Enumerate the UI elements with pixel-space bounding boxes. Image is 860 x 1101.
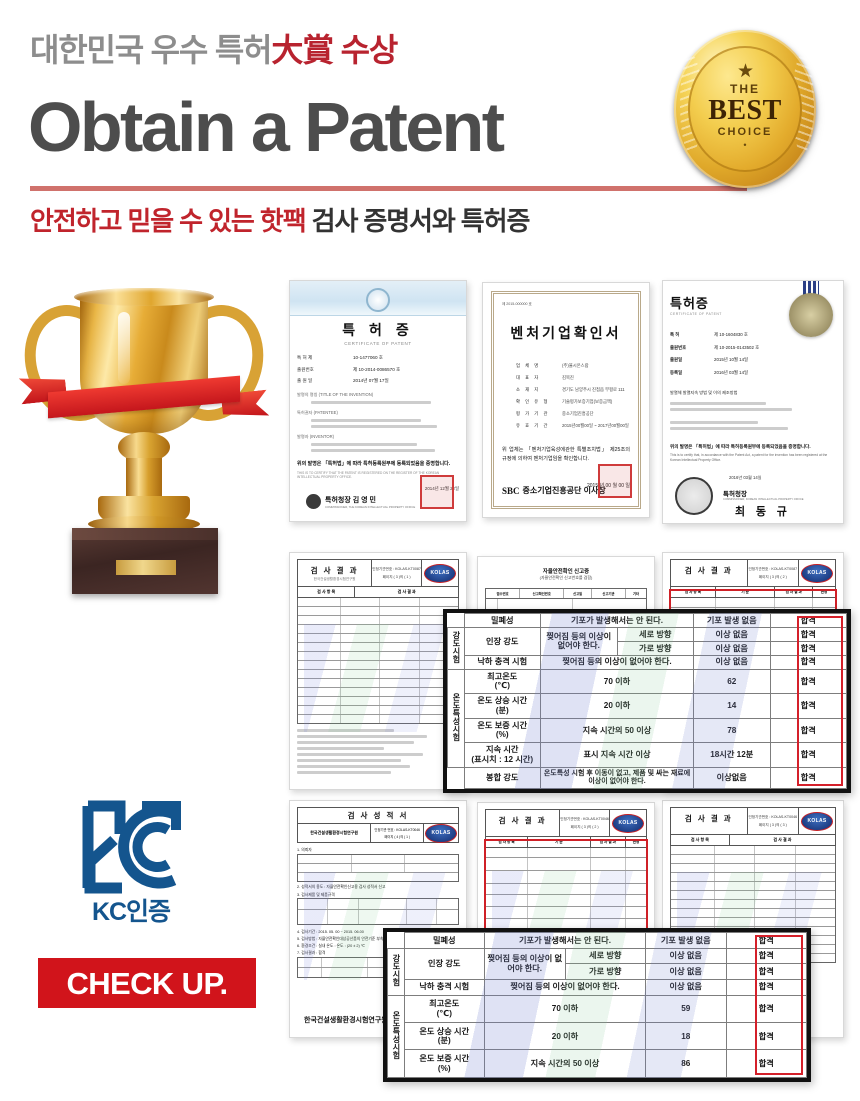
report-col-header: 검 사 결 과 <box>591 837 626 847</box>
kolas-badge-icon: KOLAS <box>801 812 833 831</box>
venture-field-value: 경기도 남양주시 진접읍 부평로 111 <box>562 385 625 394</box>
venture-doc-no: 제 2015-000000 호 <box>502 302 630 307</box>
cell-result: 이상 없음 <box>646 964 727 980</box>
holder-label: 특허권자 (PATENTEE) <box>297 410 459 416</box>
test-result-table: 밀폐성 기포가 발생해서는 안 된다. 기포 발생 없음 합격 강도시험 인장 … <box>447 613 847 789</box>
kolas-badge-icon: KOLAS <box>801 564 833 583</box>
report-page: 페이지 ( 3 )의 ( 3 ) <box>759 823 787 828</box>
cell-judgment: 합격 <box>726 948 807 964</box>
cell-result: 59 <box>646 995 727 1022</box>
cell-criterion: 지속 시간의 50 이상 <box>485 1050 646 1078</box>
page-header: 대한민국 우수 특허大賞 수상 Obtain a Patent 안전하고 믿을 … <box>0 0 860 262</box>
certificate-statement: 위의 발명은 「특허법」에 따라 특허등록원부에 등록되었음을 증명합니다. <box>670 444 836 450</box>
eyebrow-accent-text: 大賞 수상 <box>271 32 397 68</box>
cell-criterion: 찢어짐 등의 이상이 없어야 한다. <box>541 655 694 669</box>
report-header: 검 사 결 과 인정기관번호 : KOLAS-KT0087 페이지 ( 3 )의… <box>670 559 836 587</box>
report-org: 한국건설생활환경시험연구원 <box>310 830 358 836</box>
report-col-header: 판정 <box>813 587 835 597</box>
report-title: 검 사 결 과 <box>685 565 733 576</box>
cell-criterion: 찢어짐 등의 이상이 없어야 한다. <box>485 979 646 995</box>
best-choice-medal-icon: ★ THE BEST CHOICE • <box>672 28 822 193</box>
title-divider <box>30 186 747 191</box>
report-col-header: 검 사 결 과 <box>730 835 835 845</box>
kipo-seal-icon <box>675 477 713 515</box>
table-row: 낙하 충격 시험 찢어짐 등의 이상이 없어야 한다. 이상 없음 합격 <box>448 655 847 669</box>
medal-line-best: BEST <box>708 97 782 125</box>
cell-result: 이상 없음 <box>694 627 771 641</box>
report-title: 검 사 성 적 서 <box>297 807 459 824</box>
cell-judgment: 합격 <box>726 933 807 949</box>
check-up-button-label: CHECK UP. <box>66 968 227 999</box>
venture-statement: 위 업체는 「벤처기업육성에관한 특별조치법」 제25조의 규정에 의하여 벤처… <box>502 446 630 464</box>
venture-field-value: 2015년00월00일 ~ 2017년00월00일 <box>562 421 629 430</box>
cell-result: 62 <box>694 669 771 693</box>
cell-judgment: 합격 <box>770 627 847 641</box>
eyebrow-gray-text: 대한민국 우수 특허 <box>30 32 271 68</box>
cell-result: 이상없음 <box>694 767 771 789</box>
trophy-icon <box>14 282 274 632</box>
cell-judgment: 합격 <box>770 767 847 789</box>
cell-result: 이상 없음 <box>694 655 771 669</box>
table-row: 밀폐성 기포가 발생해서는 안 된다. 기포 발생 없음 합격 <box>448 614 847 628</box>
report-col-header: 검 사 결 과 <box>355 587 458 597</box>
cell-result: 86 <box>646 1050 727 1078</box>
invention-label: 발명의 명칭 (TITLE OF THE INVENTION) <box>297 392 459 398</box>
trophy-nameplate <box>116 560 176 575</box>
cell-criterion: 지속 시간의 50 이상 <box>541 718 694 742</box>
cert-field-label: 출원번호 <box>670 343 710 353</box>
certificate-signer: 특허청장 김 영 민 <box>325 495 415 505</box>
cert-field-value: 2014년 07월 17일 <box>353 377 389 386</box>
table-row: 온도 보증 시간 (%) 지속 시간의 50 이상 78 합격 <box>448 718 847 742</box>
cell-judgment: 합격 <box>726 964 807 980</box>
certificate-card-patent-1[interactable]: 특 허 증 CERTIFICATE OF PATENT 특 허 제10-1477… <box>289 280 467 522</box>
inventor-label: 발명자 (INVENTOR) <box>297 434 459 440</box>
cell-judgment: 합격 <box>770 694 847 718</box>
certificate-statement-en: This is to certify that, in accordance w… <box>670 453 836 463</box>
report-page: 페이지 ( 3 )의 ( 2 ) <box>571 825 599 830</box>
medal-dot-icon: • <box>743 140 746 150</box>
report-title: 검 사 결 과 <box>499 815 547 826</box>
cert-field-label: 출원번호 <box>297 366 349 375</box>
cert-field-value: 10-1477060 호 <box>353 354 383 363</box>
cell-judgment: 합격 <box>770 641 847 655</box>
venture-field-label: 소 재 지 <box>516 385 558 394</box>
kolas-badge-icon: KOLAS <box>612 814 644 833</box>
cert-field-value: 제 10-2015-0143502 호 <box>714 343 759 353</box>
cell-item: 밀폐성 <box>404 933 485 949</box>
certificate-card-patent-2[interactable]: 특허증 CERTIFICATE OF PATENT 특 허제 10-160483… <box>662 280 844 524</box>
cell-group: 강도시험 <box>392 954 400 986</box>
cell-direction: 가로 방향 <box>617 641 694 655</box>
kolas-badge-icon: KOLAS <box>424 564 456 583</box>
report-header: 검 사 결 과 한국건설생활환경시험연구원 인정기관번호 : KOLAS-KT0… <box>297 559 459 587</box>
cell-criterion: 70 이하 <box>485 995 646 1022</box>
signature-text: 최 동 규 <box>735 503 791 519</box>
cell-group: 온도특성시험 <box>392 1011 400 1059</box>
report-card-inspection-1[interactable]: 검 사 결 과 한국건설생활환경시험연구원 인정기관번호 : KOLAS-KT0… <box>289 552 467 790</box>
cell-item: 온도 상승 시간 (분) <box>464 694 541 718</box>
national-emblem-icon <box>366 288 390 312</box>
table-row: 낙하 충격 시험 찢어짐 등의 이상이 없어야 한다. 이상 없음 합격 <box>388 979 807 995</box>
sbc-logo-text: SBC <box>502 486 520 496</box>
cell-result: 이상 없음 <box>694 641 771 655</box>
report-accreditation: 인정기관번호 : KOLAS-KT0087 <box>372 567 421 572</box>
test-result-table: 밀폐성 기포가 발생해서는 안 된다. 기포 발생 없음 합격 강도시험 인장 … <box>387 932 807 1078</box>
cell-criterion: 찢어짐 등의 이상이 없어야 한다. <box>541 627 618 655</box>
page-title: Obtain a Patent <box>28 92 502 162</box>
report-section: 2. 성적서의 용도 : 자율안전확인신고용 검사 성적서 신고 <box>297 885 459 890</box>
cell-item: 인장 강도 <box>404 948 485 979</box>
cell-result: 18 <box>646 1022 727 1049</box>
venture-issuer: 중소기업진흥공단 이사장 <box>523 485 606 496</box>
cell-result: 이상 없음 <box>646 979 727 995</box>
venture-field-value: (주)율시온스람 <box>562 361 589 370</box>
kipo-logo-icon <box>306 494 321 509</box>
ribbon-band <box>48 376 240 419</box>
medal-line-choice: CHOICE <box>718 126 773 138</box>
subtitle-accent-text: 안전하고 믿을 수 있는 핫팩 <box>30 206 306 236</box>
report-col-header: 기 준 <box>528 837 591 847</box>
decl-col-header: 접수번호 <box>486 589 520 598</box>
gold-seal-icon <box>789 293 833 337</box>
report-col-header: 검 사 항 목 <box>671 587 716 597</box>
cell-judgment: 합격 <box>770 614 847 628</box>
table-row: 밀폐성 기포가 발생해서는 안 된다. 기포 발생 없음 합격 <box>388 933 807 949</box>
report-page: 페이지 ( 3 )의 ( 2 ) <box>759 575 787 580</box>
cell-item: 온도 보증 시간 (%) <box>464 718 541 742</box>
decl-col-header: 기타 <box>626 589 646 598</box>
table-row: 지속 시간 (표시치 : 12 시간) 표시 지속 시간 이상 18시간 12분… <box>448 743 847 767</box>
cell-direction: 세로 방향 <box>565 948 646 964</box>
cell-criterion: 온도특성 시험 후 이동이 없고, 제품 및 싸는 재료에 이상이 없어야 한다… <box>541 767 694 789</box>
official-stamp-icon <box>598 464 632 498</box>
report-page: 페이지 ( 3 )의 ( 1 ) <box>383 575 411 580</box>
decl-col-header: 신고확인번호 <box>520 589 564 598</box>
cert-field-label: 출 원 일 <box>297 377 349 386</box>
report-col-header: 검 사 항 목 <box>298 587 355 597</box>
report-footer-org: 한국건설생활환경시험연구원 <box>304 1015 388 1025</box>
venture-title: 벤처기업확인서 <box>502 323 630 343</box>
report-col-header: 검 사 결 과 <box>775 587 813 597</box>
report-col-header: 기 준 <box>716 587 776 597</box>
cell-judgment: 합격 <box>770 669 847 693</box>
subtitle-rest-text: 검사 증명서와 특허증 <box>306 206 530 236</box>
check-up-button[interactable]: CHECK UP. <box>38 958 256 1008</box>
cert-field-label: 특 허 제 <box>297 354 349 363</box>
cell-judgment: 합격 <box>770 743 847 767</box>
cell-criterion: 20 이하 <box>485 1022 646 1049</box>
cert-field-value: 제 10-1604830 호 <box>714 330 748 340</box>
cell-item: 온도 보증 시간 (%) <box>404 1050 485 1078</box>
cell-result: 이상 없음 <box>646 948 727 964</box>
certificate-title: 특 허 증 <box>297 320 459 340</box>
cert-field-value: 2015년 10월 14일 <box>714 355 748 365</box>
cell-result: 기포 발생 없음 <box>694 614 771 628</box>
cert-field-label: 특 허 <box>670 330 710 340</box>
trophy-lip <box>74 288 214 306</box>
page-subtitle: 안전하고 믿을 수 있는 핫팩 검사 증명서와 특허증 <box>30 208 529 234</box>
venture-field-label: 확 인 유 형 <box>516 397 558 406</box>
invention-name: 발열체 발열지속 방법 및 이의 제조방법 <box>670 390 836 396</box>
decl-col-header: 신고기관 <box>592 589 626 598</box>
star-icon: ★ <box>737 64 753 79</box>
cell-criterion: 찢어짐 등의 이상이 없어야 한다. <box>485 948 566 979</box>
kc-certification-mark: KC인증 <box>56 800 206 925</box>
report-col-header: 검 사 항 목 <box>671 835 730 845</box>
venture-field-label: 업 체 명 <box>516 361 558 370</box>
venture-field-label: 대 표 자 <box>516 373 558 382</box>
cell-judgment: 합격 <box>726 979 807 995</box>
table-row: 온도특성시험 최고온도 (℃) 70 이하 59 합격 <box>388 995 807 1022</box>
venture-field-label: 평 가 기 관 <box>516 409 558 418</box>
cell-judgment: 합격 <box>770 718 847 742</box>
trophy-ribbon-icon <box>20 370 268 428</box>
venture-field-label: 유 효 기 간 <box>516 421 558 430</box>
cell-criterion: 70 이하 <box>541 669 694 693</box>
venture-field-value: 중소기업진흥공단 <box>562 409 594 418</box>
cert-field-value: 제 10-2014-0086570 호 <box>353 366 400 375</box>
cell-judgment: 합격 <box>726 1050 807 1078</box>
table-row: 온도특성시험 최고온도 (℃) 70 이하 62 합격 <box>448 669 847 693</box>
certificate-card-venture[interactable]: 제 2015-000000 호 벤처기업확인서 업 체 명(주)율시온스람 대 … <box>482 282 650 518</box>
official-stamp-icon <box>420 475 454 509</box>
table-row: 온도 보증 시간 (%) 지속 시간의 50 이상 86 합격 <box>388 1050 807 1078</box>
table-row: 강도시험 인장 강도 찢어짐 등의 이상이 없어야 한다. 세로 방향 이상 없… <box>388 948 807 964</box>
cell-criterion: 기포가 발생해서는 안 된다. <box>485 933 646 949</box>
report-title: 검 사 결 과 <box>311 565 359 576</box>
cell-item: 봉합 강도 <box>464 767 541 789</box>
table-row: 봉합 강도 온도특성 시험 후 이동이 없고, 제품 및 싸는 재료에 이상이 … <box>448 767 847 789</box>
certificate-signer: 특허청장 <box>723 488 804 498</box>
report-accreditation: 인정기관번호 : KOLAS-KT0046 <box>748 815 797 820</box>
cell-item: 낙하 충격 시험 <box>404 979 485 995</box>
report-accreditation: 인정기관 번호 : KOLAS-KT0046 <box>374 827 420 832</box>
report-col-header: 판정 <box>626 837 646 847</box>
cell-item: 낙하 충격 시험 <box>464 655 541 669</box>
kc-logo-icon <box>56 800 206 895</box>
cell-item: 지속 시간 (표시치 : 12 시간) <box>464 743 541 767</box>
cell-result: 14 <box>694 694 771 718</box>
table-row: 온도 상승 시간 (분) 20 이하 14 합격 <box>448 694 847 718</box>
venture-field-value: 기술평가보증기업(보증금액) <box>562 397 612 406</box>
test-result-overlay-top[interactable]: 밀폐성 기포가 발생해서는 안 된다. 기포 발생 없음 합격 강도시험 인장 … <box>443 609 851 793</box>
certificate-statement: 위의 발명은 「특허법」에 따라 특허등록원부에 등록되었음을 증명합니다. <box>297 461 459 469</box>
cell-result: 18시간 12분 <box>694 743 771 767</box>
cert-field-label: 출원일 <box>670 355 710 365</box>
report-data-table <box>297 598 459 724</box>
report-header: 검 사 결 과 인정기관번호 : KOLAS-KT0046 페이지 ( 3 )의… <box>670 807 836 835</box>
eyebrow-text: 대한민국 우수 특허大賞 수상 <box>30 34 397 66</box>
cell-group: 온도특성시험 <box>452 693 460 741</box>
certificate-date: 2016년 03월 14일 <box>729 475 762 481</box>
report-accreditation: 인정기관번호 : KOLAS-KT0087 <box>748 567 797 572</box>
cell-direction: 세로 방향 <box>617 627 694 641</box>
cell-item: 최고온도 (℃) <box>404 995 485 1022</box>
cell-item: 최고온도 (℃) <box>464 669 541 693</box>
cell-item: 인장 강도 <box>464 627 541 655</box>
promo-page: 대한민국 우수 특허大賞 수상 Obtain a Patent 안전하고 믿을 … <box>0 0 860 1101</box>
declaration-title: 자율안전확인 신고증 <box>485 567 647 575</box>
trophy-base-top <box>72 528 218 540</box>
report-col-header: 검 사 항 목 <box>486 837 528 847</box>
table-row: 온도 상승 시간 (분) 20 이하 18 합격 <box>388 1022 807 1049</box>
cell-item: 온도 상승 시간 (분) <box>404 1022 485 1049</box>
certificate-signer-en: COMMISSIONER, THE KOREAN INTELLECTUAL PR… <box>325 505 415 509</box>
report-page: 페이지 ( 4 )의 ( 1 ) <box>384 834 410 839</box>
test-result-overlay-bottom[interactable]: 밀폐성 기포가 발생해서는 안 된다. 기포 발생 없음 합격 강도시험 인장 … <box>383 928 811 1082</box>
cell-judgment: 합격 <box>770 655 847 669</box>
cert-field-label: 등록일 <box>670 368 710 378</box>
report-title: 검 사 결 과 <box>685 813 733 824</box>
venture-field-value: 김복진 <box>562 373 574 382</box>
cell-judgment: 합격 <box>726 1022 807 1049</box>
report-section: 1. 의뢰자 <box>297 847 459 854</box>
cell-group: 강도시험 <box>452 631 460 663</box>
table-row: 강도시험 인장 강도 찢어짐 등의 이상이 없어야 한다. 세로 방향 이상 없… <box>448 627 847 641</box>
cell-criterion: 기포가 발생해서는 안 된다. <box>541 614 694 628</box>
medal-line-the: THE <box>730 82 760 96</box>
cell-criterion: 20 이하 <box>541 694 694 718</box>
report-accreditation: 인정기관번호 : KOLAS-KT0046 <box>560 817 609 822</box>
kolas-badge-icon: KOLAS <box>425 824 457 843</box>
decl-col-header: 신고일 <box>564 589 592 598</box>
cell-direction: 가로 방향 <box>565 964 646 980</box>
cell-judgment: 합격 <box>726 995 807 1022</box>
cert-field-value: 2016년 03월 14일 <box>714 368 748 378</box>
report-org: 한국건설생활환경시험연구원 <box>314 577 356 582</box>
cell-criterion: 표시 지속 시간 이상 <box>541 743 694 767</box>
cell-result: 기포 발생 없음 <box>646 933 727 949</box>
cell-item: 밀폐성 <box>464 614 541 628</box>
medal-text-group: ★ THE BEST CHOICE • <box>688 46 802 172</box>
certificate-signer-en: COMMISSIONER, KOREAN INTELLECTUAL PROPER… <box>723 498 804 501</box>
kc-label: KC인증 <box>56 892 206 928</box>
report-header: 검 사 결 과 인정기관번호 : KOLAS-KT0046 페이지 ( 3 )의… <box>485 809 647 837</box>
certificate-subtitle: CERTIFICATE OF PATENT <box>297 341 459 346</box>
declaration-subtitle: (자율안전확인 신고번호를 겸함) <box>485 575 647 581</box>
certificate-header-band <box>290 281 466 316</box>
cell-result: 78 <box>694 718 771 742</box>
